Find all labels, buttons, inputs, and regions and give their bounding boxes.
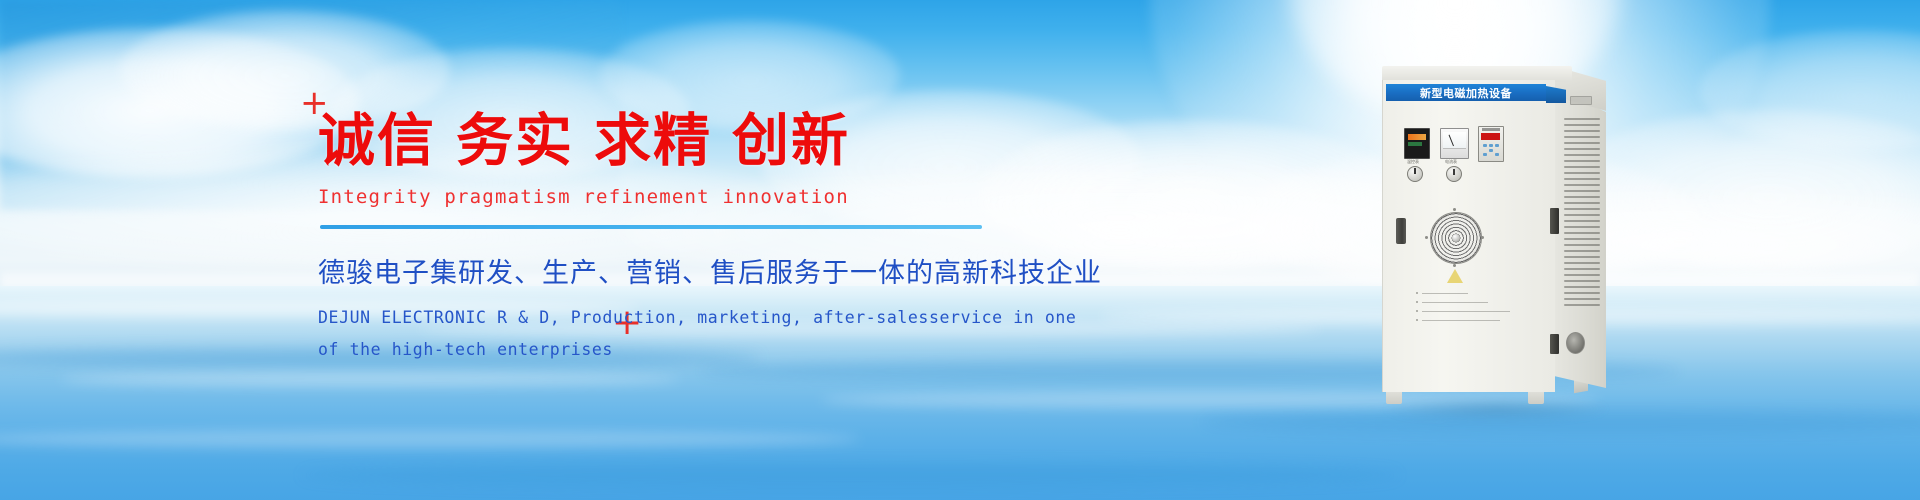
wave-shadow [300, 462, 1400, 488]
machine-fan-screw [1453, 208, 1456, 211]
headline-word-1: 诚信 [318, 108, 436, 174]
machine-controller-caption: 温控表 [1407, 159, 1419, 165]
machine-side-badge [1570, 96, 1592, 105]
machine-cable-port [1566, 332, 1585, 354]
headline-word-3: 求精 [594, 108, 712, 174]
wave-highlight [60, 372, 680, 386]
machine-power-knob[interactable] [1407, 166, 1423, 182]
machine-door-handle[interactable] [1396, 218, 1406, 244]
machine-spec-plate [1416, 288, 1514, 326]
machine-fan-screw [1425, 236, 1428, 239]
machine-side-latch-lower[interactable] [1550, 334, 1559, 354]
subtitle-english-line-2: of the high-tech enterprises [318, 334, 1078, 366]
machine-temperature-controller[interactable] [1404, 128, 1430, 159]
machine-warning-triangle-icon [1447, 269, 1463, 283]
headline-english: Integrity pragmatism refinement innovati… [318, 186, 1078, 208]
machine-side-latch-upper[interactable] [1550, 208, 1559, 234]
subtitle-chinese: 德骏电子集研发、生产、营销、售后服务于一体的高新科技企业 [318, 251, 1078, 290]
machine-ammeter-caption: 电流表 [1445, 159, 1457, 165]
machine-cooling-fan-grille [1430, 212, 1482, 264]
machine-vent-grille [1564, 118, 1602, 308]
machine-fan-screw [1481, 236, 1484, 239]
banner-text-block: 诚信务实求精创新 Integrity pragmatism refinement… [318, 112, 1078, 366]
machine-label-text: 新型电磁加热设备 [1420, 85, 1512, 101]
headline-word-2: 务实 [456, 108, 574, 174]
promo-banner: + + 诚信务实求精创新 Integrity pragmatism refine… [0, 0, 1920, 500]
machine-label: 新型电磁加热设备 [1386, 84, 1546, 101]
machine-shadow [1384, 396, 1608, 422]
machine-adjust-knob[interactable] [1446, 166, 1462, 182]
machine-fan-screw [1453, 264, 1456, 267]
product-machine: 新型电磁加热设备 [1378, 66, 1614, 422]
subtitle-english: DEJUN ELECTRONIC R & D, Production, mark… [318, 302, 1078, 366]
divider [320, 225, 982, 229]
wave-highlight [0, 430, 860, 448]
headline-word-4: 创新 [732, 108, 850, 174]
machine-keypad-display[interactable] [1478, 126, 1504, 162]
subtitle-english-line-1: DEJUN ELECTRONIC R & D, Production, mark… [318, 302, 1078, 334]
headline: 诚信务实求精创新 [318, 112, 1078, 172]
machine-analog-ammeter [1440, 128, 1469, 159]
